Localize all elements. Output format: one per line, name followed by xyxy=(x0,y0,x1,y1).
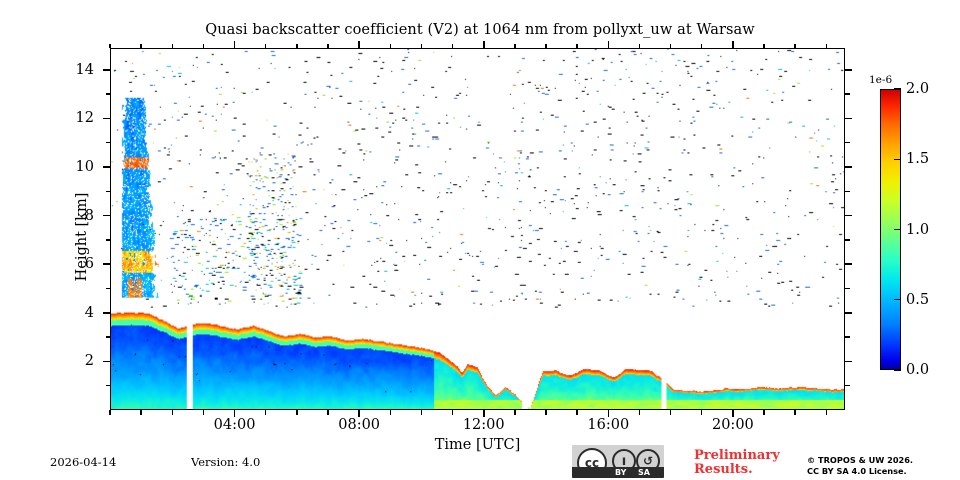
y-tick-label: 2 xyxy=(85,353,94,369)
colorbar-tick-label: 2.0 xyxy=(906,81,929,97)
y-tick-label: 10 xyxy=(76,159,94,175)
cc-by-label: BY xyxy=(615,467,626,478)
x-tick-major xyxy=(358,410,360,417)
y-tick-label: 6 xyxy=(85,256,94,272)
y-tick-major xyxy=(103,215,110,217)
x-tick-minor-top xyxy=(794,44,795,49)
heatmap-canvas xyxy=(111,49,844,409)
colorbar-tick xyxy=(894,88,901,89)
x-tick-major-top xyxy=(608,41,610,48)
x-tick-minor-top xyxy=(421,44,422,49)
x-tick-minor xyxy=(670,410,671,415)
colorbar-tick-label: 0.0 xyxy=(906,362,929,378)
y-tick-minor xyxy=(106,239,111,240)
x-tick-minor-top xyxy=(109,44,110,49)
colorbar-exponent-label: 1e-6 xyxy=(869,74,892,86)
y-tick-minor xyxy=(106,191,111,192)
copyright-notice: © TROPOS & UW 2026. CC BY SA 4.0 License… xyxy=(807,455,913,477)
y-tick-major xyxy=(103,166,110,168)
x-tick-minor xyxy=(545,410,546,415)
y-tick-minor xyxy=(106,142,111,143)
plot-area[interactable] xyxy=(110,48,845,410)
x-tick-major xyxy=(732,410,734,417)
x-tick-minor xyxy=(172,410,173,415)
x-tick-minor xyxy=(203,410,204,415)
colorbar-tick-label: 0.5 xyxy=(906,292,929,308)
x-tick-minor-top xyxy=(452,44,453,49)
y-tick-major-right xyxy=(845,166,852,168)
preliminary-line-2: Results. xyxy=(694,463,804,477)
y-tick-minor xyxy=(106,385,111,386)
x-tick-minor-top xyxy=(639,44,640,49)
x-tick-minor xyxy=(265,410,266,415)
copyright-line-2: CC BY SA 4.0 License. xyxy=(807,466,913,477)
x-tick-minor-top xyxy=(763,44,764,49)
x-tick-minor-top xyxy=(296,44,297,49)
x-tick-minor xyxy=(421,410,422,415)
y-tick-minor-right xyxy=(845,239,850,240)
x-tick-minor xyxy=(514,410,515,415)
y-tick-major-right xyxy=(845,312,852,314)
y-tick-minor xyxy=(106,93,111,94)
x-tick-minor xyxy=(327,410,328,415)
x-tick-label: 04:00 xyxy=(214,417,256,433)
x-tick-minor xyxy=(109,410,110,415)
x-tick-label: 08:00 xyxy=(338,417,380,433)
x-tick-minor xyxy=(826,410,827,415)
x-tick-minor-top xyxy=(390,44,391,49)
x-tick-minor-top xyxy=(140,44,141,49)
lidar-quicklook-figure: Quasi backscatter coefficient (V2) at 10… xyxy=(0,0,960,480)
y-tick-major-right xyxy=(845,118,852,120)
colorbar-tick xyxy=(894,369,901,370)
y-tick-major xyxy=(103,118,110,120)
x-tick-minor xyxy=(390,410,391,415)
y-tick-minor-right xyxy=(845,191,850,192)
y-tick-minor xyxy=(106,288,111,289)
x-tick-minor xyxy=(576,410,577,415)
x-tick-minor-top xyxy=(670,44,671,49)
y-tick-major-right xyxy=(845,361,852,363)
preliminary-line-1: Preliminary xyxy=(694,449,804,463)
x-tick-minor-top xyxy=(826,44,827,49)
x-tick-minor xyxy=(296,410,297,415)
x-tick-minor-top xyxy=(327,44,328,49)
x-tick-major-top xyxy=(358,41,360,48)
y-tick-label: 8 xyxy=(85,208,94,224)
y-tick-label: 4 xyxy=(85,305,94,321)
x-tick-minor xyxy=(639,410,640,415)
y-tick-minor-right xyxy=(845,288,850,289)
x-tick-major-top xyxy=(234,41,236,48)
x-tick-minor xyxy=(763,410,764,415)
x-tick-major xyxy=(608,410,610,417)
y-tick-major xyxy=(103,263,110,265)
cc-sa-label: SA xyxy=(638,467,650,478)
y-tick-minor xyxy=(106,336,111,337)
footer-version: Version: 4.0 xyxy=(191,455,260,469)
x-tick-major xyxy=(234,410,236,417)
y-tick-major xyxy=(103,69,110,71)
x-tick-minor-top xyxy=(265,44,266,49)
colorbar-tick-label: 1.5 xyxy=(906,151,929,167)
colorbar-tick xyxy=(894,159,901,160)
x-tick-minor xyxy=(701,410,702,415)
y-tick-major xyxy=(103,361,110,363)
colorbar-tick xyxy=(894,299,901,300)
x-tick-minor xyxy=(452,410,453,415)
x-tick-major xyxy=(483,410,485,417)
x-tick-label: 20:00 xyxy=(712,417,754,433)
page-title: Quasi backscatter coefficient (V2) at 10… xyxy=(0,22,960,38)
x-tick-label: 16:00 xyxy=(587,417,629,433)
colorbar-tick-label: 1.0 xyxy=(906,222,929,238)
x-tick-minor xyxy=(794,410,795,415)
y-tick-major-right xyxy=(845,69,852,71)
y-tick-minor-right xyxy=(845,142,850,143)
y-tick-major-right xyxy=(845,215,852,217)
y-tick-major xyxy=(103,312,110,314)
footer-date: 2026-04-14 xyxy=(50,455,116,469)
x-tick-label: 12:00 xyxy=(463,417,505,433)
y-tick-minor-right xyxy=(845,336,850,337)
colorbar-tick xyxy=(894,229,901,230)
y-tick-minor-right xyxy=(845,93,850,94)
x-tick-minor-top xyxy=(545,44,546,49)
y-tick-minor-right xyxy=(845,385,850,386)
x-tick-minor xyxy=(140,410,141,415)
y-tick-label: 14 xyxy=(76,62,94,78)
x-tick-minor-top xyxy=(514,44,515,49)
cc-by-sa-badge: cc ı ↺ BY SA xyxy=(572,445,664,478)
x-tick-minor-top xyxy=(701,44,702,49)
x-tick-minor-top xyxy=(203,44,204,49)
copyright-line-1: © TROPOS & UW 2026. xyxy=(807,455,913,466)
x-tick-minor-top xyxy=(576,44,577,49)
x-tick-major-top xyxy=(483,41,485,48)
y-tick-label: 12 xyxy=(76,110,94,126)
x-tick-minor-top xyxy=(172,44,173,49)
preliminary-results-notice: Preliminary Results. xyxy=(694,449,804,477)
y-tick-major-right xyxy=(845,263,852,265)
x-tick-major-top xyxy=(732,41,734,48)
